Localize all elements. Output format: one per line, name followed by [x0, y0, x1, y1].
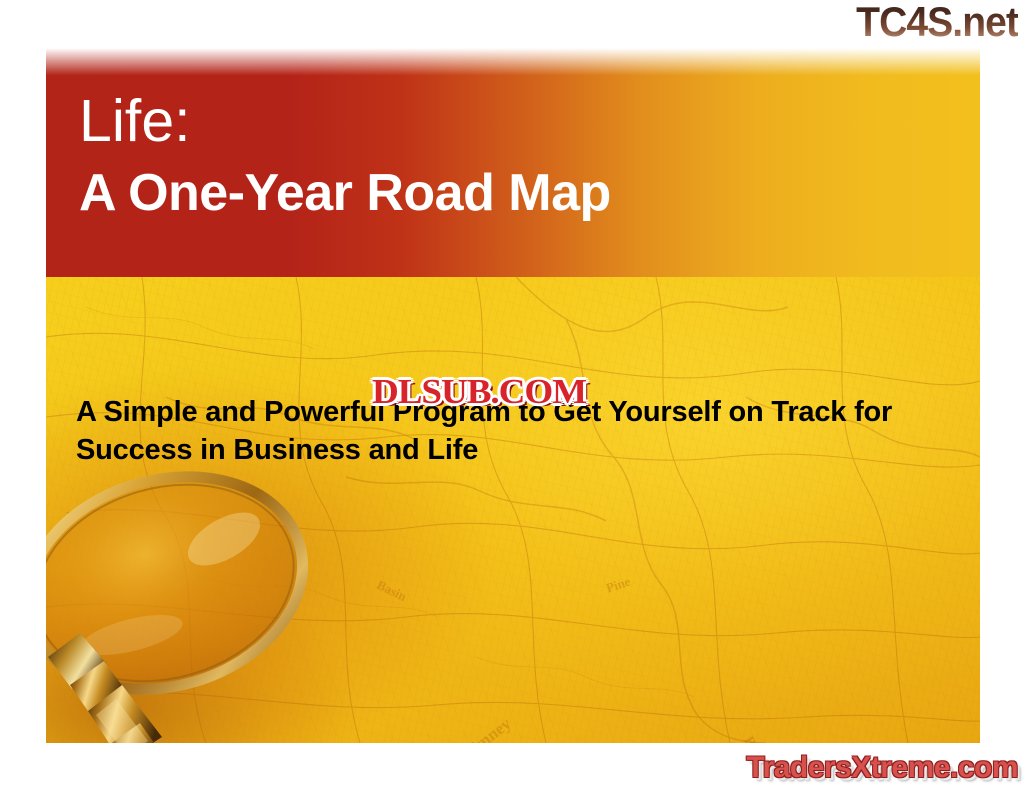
map-place-label: Pine: [604, 574, 632, 597]
map-place-label: Basin: [374, 577, 409, 605]
tc4s-watermark: TC4S.net: [856, 0, 1018, 46]
title-banner: Life: A One-Year Road Map: [46, 48, 980, 277]
slide-title-line2: A One-Year Road Map: [79, 167, 611, 219]
magnifying-glass: [46, 465, 360, 743]
map-place-label: Chimney: [451, 714, 515, 743]
slide-title-line1: Life:: [79, 92, 191, 151]
tradersxtreme-watermark: TradersXtreme.com: [746, 751, 1018, 785]
map-contour-lines: [46, 277, 980, 743]
map-background: ChimneyFallsMIDDLEThree SistersCarterBro…: [46, 277, 980, 743]
map-place-label: Brook: [739, 734, 773, 743]
dlsub-watermark: DLSUB.COM: [372, 372, 586, 412]
